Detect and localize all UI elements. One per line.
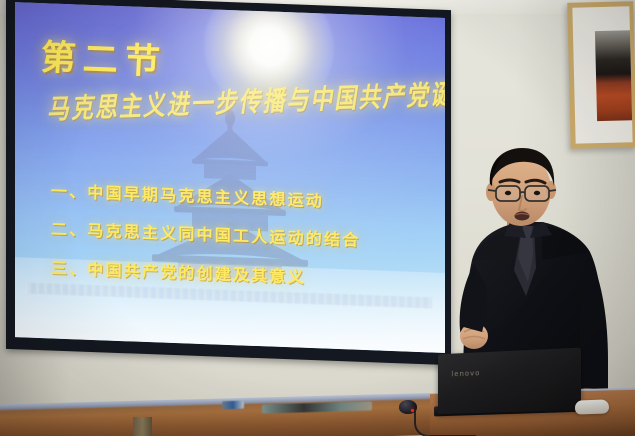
- picture-mat: [572, 6, 632, 143]
- laptop[interactable]: lenovo: [438, 348, 581, 415]
- slide-bullet-2: 二、马克思主义同中国工人运动的结合: [51, 215, 360, 250]
- picture-artwork: [595, 30, 632, 121]
- wall-picture-frame: [567, 1, 635, 149]
- projection-screen-surface: 第二节 马克思主义进一步传播与中国共产党诞生 一、中国早期马克思主义思想运动 二…: [15, 2, 445, 353]
- laptop-brand-label: lenovo: [451, 369, 480, 378]
- computer-mouse[interactable]: [575, 399, 609, 414]
- desk-item-small: [222, 401, 244, 410]
- slide-bullet-3: 三、中国共产党的创建及其意义: [51, 254, 306, 287]
- slide-title: 第二节: [40, 29, 169, 85]
- lecture-hall-photo: 第二节 马克思主义进一步传播与中国共产党诞生 一、中国早期马克思主义思想运动 二…: [0, 0, 635, 436]
- slide-text-layer: 第二节 马克思主义进一步传播与中国共产党诞生 一、中国早期马克思主义思想运动 二…: [15, 2, 445, 353]
- podium-post: [133, 417, 152, 436]
- projection-screen-frame: 第二节 马克思主义进一步传播与中国共产党诞生 一、中国早期马克思主义思想运动 二…: [6, 0, 451, 365]
- slide-bullet-1: 一、中国早期马克思主义思想运动: [51, 177, 324, 211]
